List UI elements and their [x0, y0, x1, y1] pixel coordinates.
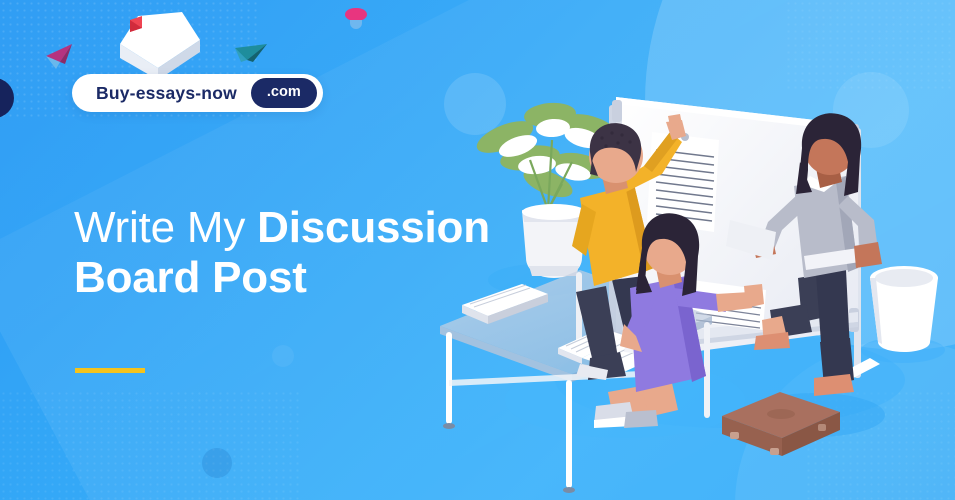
brand-tld-badge: .com: [251, 78, 317, 108]
classroom-illustration: [430, 80, 955, 500]
brand-name-text: Buy-essays-now: [96, 83, 251, 104]
headline-light-part: Write My: [74, 203, 257, 252]
hero-banner: Buy-essays-now .com Write My Discussion …: [0, 0, 955, 500]
bubble-circle-mid: [272, 345, 294, 367]
paper-plane-teal-icon: [233, 40, 271, 73]
trash-bin: [861, 266, 945, 363]
paper-plane-magenta-icon: [44, 42, 78, 77]
brand-name-pill[interactable]: Buy-essays-now .com: [72, 74, 323, 112]
headline-bold-part-2: Board Post: [74, 253, 307, 302]
bubble-circle-bottom-left: [202, 448, 232, 478]
pin-pink-icon: [345, 8, 367, 29]
isometric-b-book-logo-icon: [108, 10, 204, 84]
accent-underline-bar: [75, 368, 145, 373]
dot-texture-bottom-left: [0, 390, 300, 500]
headline-bold-part-1: Discussion: [257, 203, 490, 252]
page-title: Write My Discussion Board Post: [74, 203, 490, 303]
